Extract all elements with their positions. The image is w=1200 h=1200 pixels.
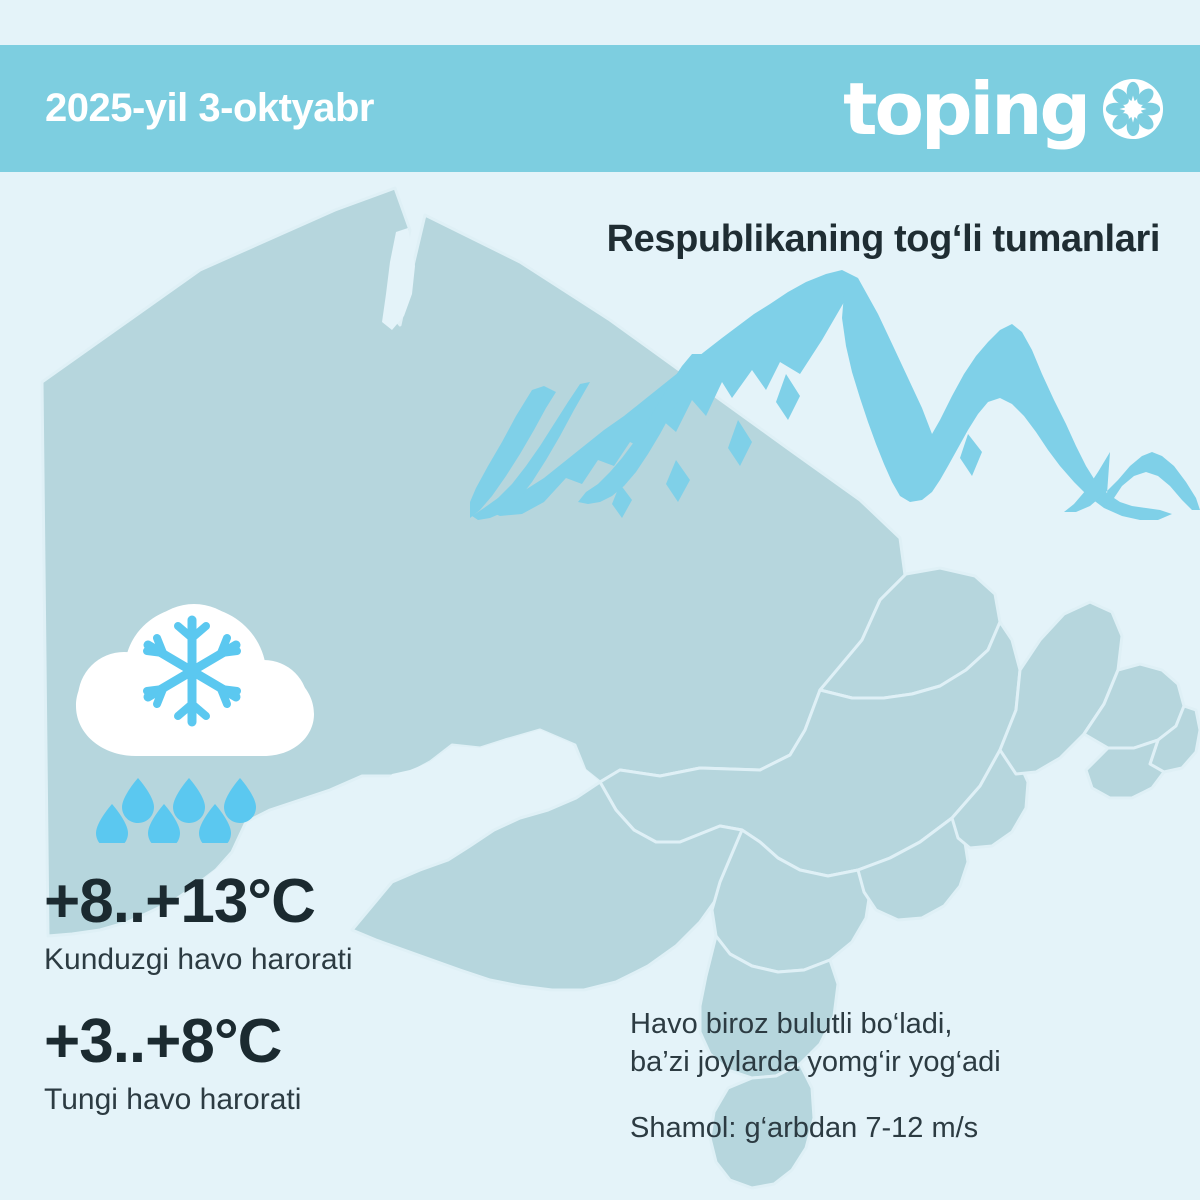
conditions-panel: Havo biroz bulutli bo‘ladi, ba’zi joylar… [630, 1005, 1001, 1147]
night-temperature-value: +3..+8°C [44, 1008, 353, 1076]
day-temperature-label: Kunduzgi havo harorati [44, 940, 353, 980]
raindrops-group [96, 778, 256, 843]
day-temperature-value: +8..+13°C [44, 868, 353, 936]
night-temperature-block: +3..+8°C Tungi havo harorati [44, 1008, 353, 1120]
raindrop [173, 778, 205, 823]
weather-infographic: 2025-yil 3-oktyabr toping Respublikaning… [0, 0, 1200, 1200]
conditions-line-2: ba’zi joylarda yomg‘ir yog‘adi [630, 1043, 1001, 1081]
temperature-panel: +8..+13°C Kunduzgi havo harorati +3..+8°… [44, 868, 353, 1148]
day-temperature-block: +8..+13°C Kunduzgi havo harorati [44, 868, 353, 980]
map-region-fargona [1086, 740, 1164, 798]
raindrop [122, 778, 154, 823]
mountain-snow-fleck-2 [728, 420, 752, 466]
wind-line: Shamol: g‘arbdan 7-12 m/s [630, 1109, 1001, 1147]
cloud-snow-rain-icon [52, 588, 332, 843]
flower-rosette-icon [1102, 78, 1164, 140]
raindrop [224, 778, 256, 823]
map-region-toshkent [1000, 602, 1122, 774]
brand-logo[interactable]: toping [843, 66, 1164, 152]
header-date: 2025-yil 3-oktyabr [45, 86, 374, 131]
night-temperature-label: Tungi havo harorati [44, 1080, 353, 1120]
brand-wordmark: toping [843, 73, 1088, 145]
mountain-snow-fleck-1 [776, 374, 800, 420]
mountain-range-illustration [470, 270, 1200, 560]
mountain-snow-fleck-3 [666, 460, 690, 502]
page-title: Respublikaning tog‘li tumanlari [607, 218, 1160, 261]
conditions-line-1: Havo biroz bulutli bo‘ladi, [630, 1005, 1001, 1043]
mountain-snow-fleck-5 [960, 434, 982, 476]
